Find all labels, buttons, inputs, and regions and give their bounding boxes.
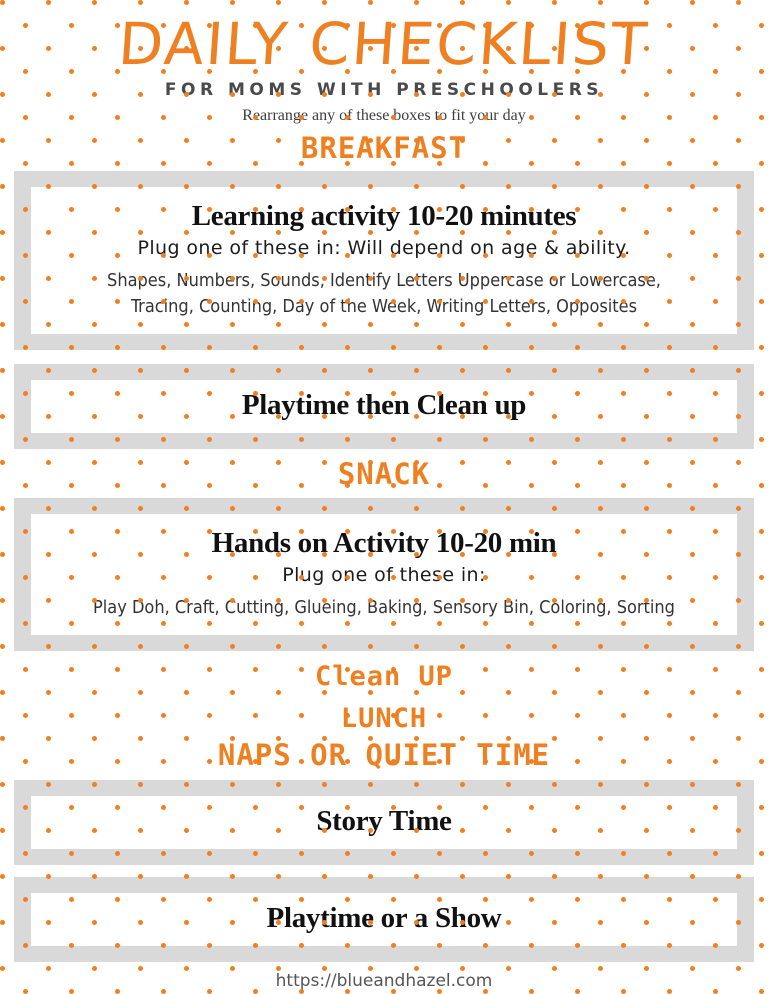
checklist-box-playtime-or-show[interactable]: Playtime or a Show [14,877,754,962]
checklist-box-panel: Learning activity 10-20 minutes Plug one… [31,187,737,334]
box-title: Learning activity 10-20 minutes [31,200,737,233]
page-tagline: Rearrange any of these boxes to fit your… [0,107,768,125]
box-title: Playtime or a Show [31,902,737,935]
checklist-box-learning-activity[interactable]: Learning activity 10-20 minutes Plug one… [14,171,754,350]
section-heading-snack: SNACK [0,459,768,489]
checklist-box-story-time[interactable]: Story Time [14,780,754,865]
page-subtitle: FOR MOMS WITH PRESCHOOLERS [0,80,768,100]
footer-url[interactable]: https://blueandhazel.com [0,971,768,991]
section-heading-naps: NAPS OR QUIET TIME [0,740,768,770]
checklist-page: DAILY CHECKLIST FOR MOMS WITH PRESCHOOLE… [0,0,768,994]
box-subtitle: Plug one of these in: [31,564,737,586]
checklist-box-playtime-clean-up[interactable]: Playtime then Clean up [14,364,754,449]
box-list-line: Play Doh, Craft, Cutting, Glueing, Bakin… [31,595,737,621]
box-list-line: Tracing, Counting, Day of the Week, Writ… [31,294,737,320]
page-header: DAILY CHECKLIST FOR MOMS WITH PRESCHOOLE… [0,0,768,125]
checklist-box-panel: Playtime then Clean up [31,380,737,433]
page-title: DAILY CHECKLIST [0,0,768,76]
checklist-box-hands-on-activity[interactable]: Hands on Activity 10-20 min Plug one of … [14,498,754,651]
section-heading-breakfast: BREAKFAST [0,133,768,163]
box-list-line: Shapes, Numbers, Sounds, Identify Letter… [31,268,737,294]
section-heading-clean-up: Clean UP [0,663,768,691]
box-title: Playtime then Clean up [31,389,737,422]
checklist-box-panel: Playtime or a Show [31,893,737,946]
box-subtitle: Plug one of these in: Will depend on age… [31,237,737,259]
box-title: Story Time [31,805,737,838]
box-title: Hands on Activity 10-20 min [31,527,737,560]
checklist-box-panel: Hands on Activity 10-20 min Plug one of … [31,514,737,635]
checklist-box-panel: Story Time [31,796,737,849]
section-heading-lunch: LUNCH [0,705,768,733]
